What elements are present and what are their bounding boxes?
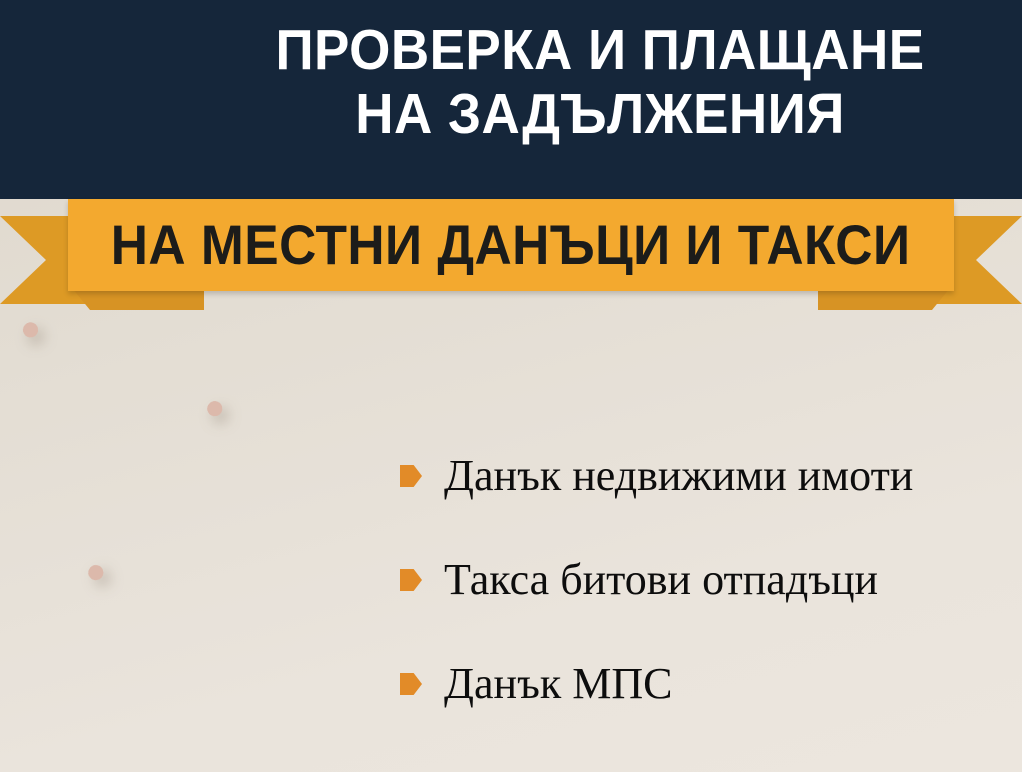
list-item[interactable]: Данък недвижими имоти (400, 424, 1010, 528)
stamp-frame (22, 312, 217, 509)
stamp-frame (87, 521, 320, 754)
ribbon-fold-left (72, 288, 204, 310)
stamp-scallop-top (206, 382, 363, 412)
tax-type-list: Данък недвижими имоти Такса битови отпад… (400, 424, 1010, 736)
list-item-label: Такса битови отпадъци (444, 555, 878, 605)
stamp-face (227, 411, 353, 539)
stamp-scallop-left (14, 322, 44, 509)
arrow-bullet-icon (400, 569, 422, 591)
ribbon-banner: НА МЕСТНИ ДАНЪЦИ И ТАКСИ (0, 198, 1022, 314)
list-item-label: Данък недвижими имоти (444, 451, 913, 501)
stamp-face (110, 544, 297, 731)
stamp-card-vehicle (87, 521, 320, 754)
list-item[interactable]: Данък МПС (400, 632, 1010, 736)
house-icon (59, 352, 181, 468)
ribbon-label: НА МЕСТНИ ДАНЪЦИ И ТАКСИ (111, 215, 911, 275)
stamp-face (43, 332, 198, 489)
trash-bin-icon (240, 419, 339, 530)
title-line-2: НА ЗАДЪЛЖЕНИЯ (219, 82, 982, 146)
stamp-card-house (22, 312, 217, 509)
title-line-1: ПРОВЕРКА И ПЛАЩАНЕ (219, 18, 982, 82)
stamp-scallop-bottom (33, 487, 218, 517)
list-item-label: Данък МПС (444, 659, 672, 709)
page-title: ПРОВЕРКА И ПЛАЩАНЕ НА ЗАДЪЛЖЕНИЯ (190, 18, 1010, 146)
poster-root: община ЕЛИН ПЕЛИН ПРОВЕРКА И ПЛАЩАНЕ (0, 0, 1022, 772)
car-icon (137, 575, 270, 698)
ribbon-main-band: НА МЕСТНИ ДАНЪЦИ И ТАКСИ (68, 199, 954, 291)
arrow-bullet-icon (400, 465, 422, 487)
list-item[interactable]: Такса битови отпадъци (400, 528, 1010, 632)
ribbon-fold-right (818, 288, 950, 310)
stamp-scallop-right (352, 390, 382, 549)
arrow-bullet-icon (400, 673, 422, 695)
